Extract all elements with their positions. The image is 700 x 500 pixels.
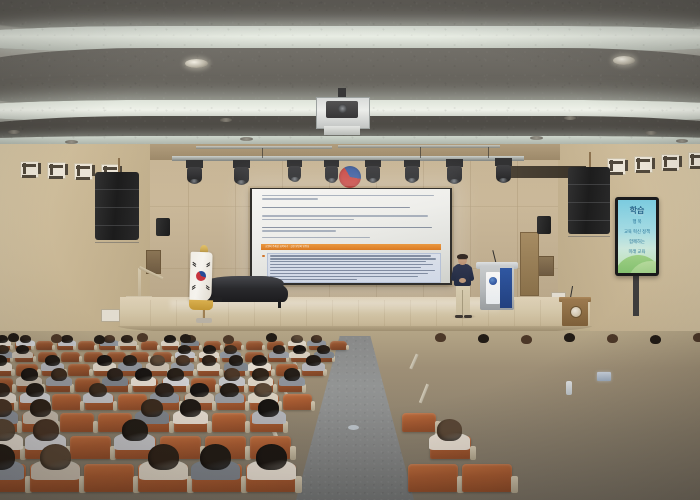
audience-member (607, 334, 618, 343)
loudspeaker-left-fill (156, 218, 170, 236)
taegeuk-circle-icon (196, 271, 206, 281)
auditorium-seat[interactable] (60, 413, 94, 432)
audience-member (8, 333, 19, 342)
speaker-hanger (118, 158, 120, 172)
audience-member (229, 355, 244, 366)
auditorium-seat[interactable] (330, 341, 347, 350)
flag-fringe (189, 300, 213, 311)
audience-member (40, 444, 71, 470)
audience-member (61, 335, 73, 343)
stage-light-lens-icon (291, 177, 299, 182)
stage-light-lens-icon (190, 179, 199, 184)
audience-member (693, 333, 700, 342)
audience-member (176, 355, 191, 366)
audience-member (26, 383, 45, 398)
seat-armrest (157, 345, 160, 351)
projector-lens-icon (338, 104, 347, 113)
seat-armrest (311, 401, 315, 411)
audience-member (97, 355, 112, 366)
audience-member (45, 355, 60, 366)
audience-member (107, 368, 123, 381)
signage-mount-pole (633, 276, 639, 316)
audience-member (306, 355, 321, 366)
audience-member (51, 334, 62, 343)
audience-member (521, 335, 532, 344)
slide-header-text: 교원의 주체성 회복하기 : 실천 방안의 방향성 (261, 244, 441, 249)
stage-light-lens-icon (369, 178, 377, 183)
lectern-crest-icon (570, 306, 582, 318)
ceiling-sprinkler (645, 131, 657, 135)
loudspeaker-left (95, 172, 139, 240)
signage-line: 미래 교육 (618, 249, 656, 255)
audience-member (252, 368, 268, 381)
audience-member (51, 368, 67, 381)
ceiling-sprinkler (564, 116, 576, 120)
audience-member (266, 333, 277, 342)
audience-member (16, 345, 29, 354)
audience-member (135, 368, 151, 381)
presenter-leg-seam (462, 290, 463, 316)
audience-member (258, 399, 279, 416)
speaker-hanger (589, 152, 591, 167)
audience-member (167, 368, 183, 381)
seat-armrest (89, 369, 93, 376)
seat-armrest (79, 356, 82, 362)
lighting-truss-bar (338, 145, 500, 148)
seat-armrest (171, 356, 174, 362)
wall-notice-box (101, 309, 120, 322)
audience-member (89, 383, 108, 398)
stage-light-lens-icon (328, 178, 336, 183)
projection-screen[interactable]: 교원의 주체성 회복하기 : 실천 방안의 방향성 한국교육개발원 (252, 189, 450, 283)
ceiling-sprinkler (220, 118, 232, 122)
audience-member (224, 345, 237, 354)
audience-member (155, 383, 174, 398)
stage-door[interactable] (520, 232, 539, 296)
audience-member (180, 334, 191, 343)
wall-deco-panel (634, 156, 653, 173)
audience-member (94, 335, 105, 344)
presenter-hand (459, 278, 466, 283)
auditorium-seat[interactable] (78, 341, 95, 350)
lighting-truss-bar (172, 156, 524, 161)
flag-stand-base (196, 318, 212, 323)
audience-member (291, 335, 303, 343)
audience-phone-screen (597, 372, 611, 381)
presenter-shoe (455, 315, 463, 318)
seat-armrest (271, 369, 275, 376)
truss-drop-cable (488, 147, 489, 158)
stage-floor-reflection (170, 300, 500, 314)
audience-member (273, 345, 286, 354)
ceiling-sprinkler (240, 137, 253, 141)
audience-member (20, 335, 32, 343)
ceiling-sprinkler (676, 139, 688, 143)
wall-deco-panel (688, 152, 700, 169)
podium-logo-icon (489, 277, 497, 285)
presenter-shoe (464, 315, 472, 318)
seat-armrest (199, 345, 202, 351)
audience-member (252, 355, 267, 366)
audience-member (121, 335, 133, 343)
truss-drop-cable (262, 148, 263, 158)
audience-member (650, 335, 661, 344)
auditorium-scene: 교원의 주체성 회복하기 : 실천 방안의 방향성 한국교육개발원 (0, 0, 700, 500)
audience-member (137, 333, 148, 342)
seat-armrest (113, 401, 117, 411)
auditorium-seat[interactable] (408, 464, 458, 492)
audience-member (223, 335, 234, 344)
audience-member (0, 335, 8, 343)
signage-line: 행 복 (618, 219, 656, 225)
audience-member (435, 333, 446, 342)
audience-member (224, 368, 240, 381)
audience-member (564, 333, 575, 342)
signage-title: 학습 (618, 205, 656, 216)
ceiling-downlight (185, 59, 208, 68)
podium-logo-panel (486, 272, 500, 304)
taegeuk-emblem-icon (339, 166, 361, 188)
projector-lift-panel (324, 126, 360, 135)
seat-armrest (262, 345, 265, 351)
audience-member (104, 335, 116, 343)
auditorium-seat[interactable] (68, 364, 90, 376)
audience-member (293, 345, 306, 354)
aisle-floor-marker (348, 425, 359, 430)
audience-member (0, 345, 9, 354)
audience-member (254, 383, 273, 398)
wall-deco-panel (74, 163, 93, 180)
audience-member (123, 355, 138, 366)
korean-national-flag (189, 252, 212, 303)
seat-armrest (346, 345, 349, 351)
audience-member (311, 335, 323, 343)
audience-member (180, 399, 201, 416)
auditorium-seat[interactable] (61, 352, 80, 362)
auditorium-seat[interactable] (283, 394, 312, 410)
stage-light-lens-icon (499, 178, 508, 183)
seat-armrest (94, 345, 97, 351)
audience-member (33, 419, 59, 440)
ceiling-sprinkler (8, 130, 20, 134)
audience-member (148, 444, 179, 470)
stage-light-lens-icon (450, 179, 459, 184)
audience-member (202, 355, 217, 366)
auditorium-seat[interactable] (52, 394, 81, 410)
audience-member (21, 368, 37, 381)
seat-armrest (295, 476, 302, 493)
loudspeaker-right-fill (537, 216, 551, 234)
auditorium-seat[interactable] (70, 436, 111, 459)
loudspeaker-right (568, 167, 610, 234)
lighting-truss-bar (196, 146, 332, 149)
wall-deco-panel (661, 154, 680, 171)
ceiling-sprinkler (530, 136, 543, 140)
auditorium-seat[interactable] (212, 413, 246, 432)
seat-armrest (290, 446, 296, 460)
audience-member (122, 419, 148, 440)
audience-member (478, 334, 489, 343)
auditorium-seat[interactable] (246, 341, 263, 350)
seat-armrest (511, 476, 518, 493)
truss-drop-cable (420, 147, 421, 158)
wall-deco-panel (20, 161, 39, 178)
auditorium-seat[interactable] (84, 464, 134, 492)
audience-member (30, 399, 51, 416)
audience-member (256, 444, 287, 470)
seat-armrest (241, 345, 244, 351)
auditorium-seat[interactable] (402, 413, 436, 432)
podium-blue-panel (500, 268, 512, 308)
slide-bullet-icon (262, 255, 265, 258)
audience-member (437, 419, 463, 440)
auditorium-seat[interactable] (36, 341, 53, 350)
audience-member (317, 345, 330, 354)
grand-piano-leg (278, 299, 281, 308)
seat-armrest (12, 384, 16, 393)
auditorium-seat[interactable] (462, 464, 512, 492)
stage-light-lens-icon (237, 180, 246, 185)
audience-member (220, 383, 239, 398)
audience-member (0, 419, 15, 440)
water-bottle (566, 381, 572, 395)
ceiling-downlight (613, 56, 635, 65)
audience-member (164, 335, 176, 343)
audience-member (190, 383, 209, 398)
auditorium-seat[interactable] (141, 341, 158, 350)
wall-deco-panel (47, 162, 66, 179)
seat-armrest (52, 345, 55, 351)
audience-member (141, 399, 162, 416)
presenter-hair (457, 254, 468, 259)
seat-armrest (220, 345, 223, 351)
signage-line: 교육 혁신 정책 (618, 229, 656, 235)
audience-member (203, 345, 216, 354)
seat-armrest (470, 446, 476, 460)
audience-member (200, 444, 231, 470)
audience-member (150, 355, 165, 366)
seat-armrest (273, 384, 277, 393)
grand-piano-lid (199, 276, 284, 288)
signage-line: 함께하는 (618, 239, 656, 245)
audience-member (284, 368, 300, 381)
stage-light-lens-icon (408, 178, 416, 183)
seat-armrest (33, 356, 36, 362)
digital-signage-display[interactable]: 학습 행 복 교육 혁신 정책 함께하는 미래 교육 (618, 200, 656, 273)
audience-member (178, 345, 191, 354)
slide-body-block (267, 253, 442, 283)
